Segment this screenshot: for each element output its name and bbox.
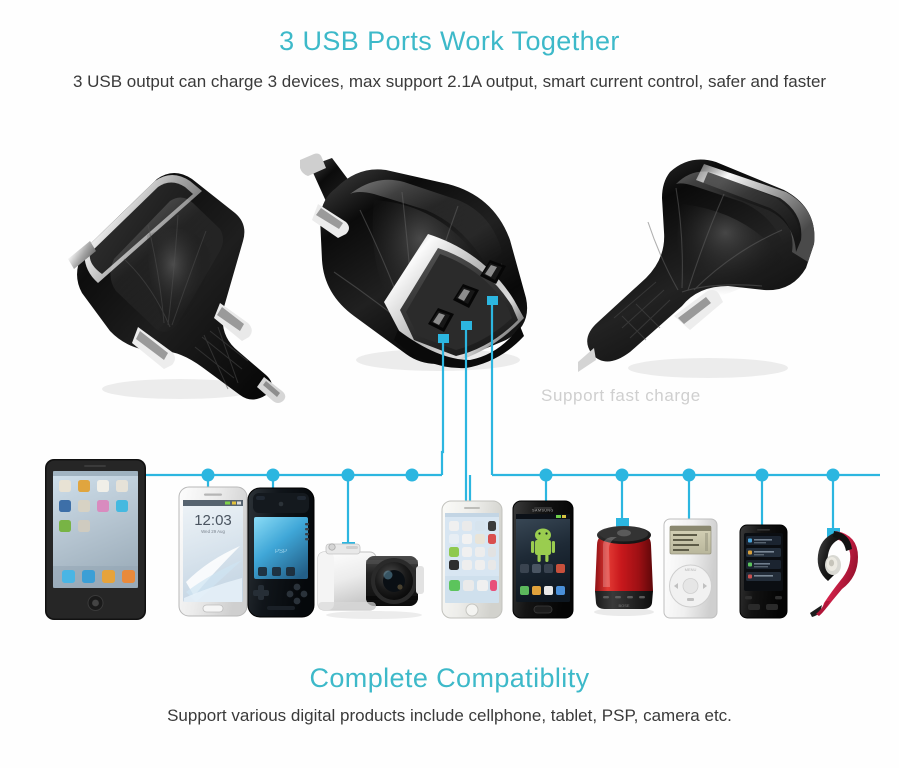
svg-text:SAMSUNG: SAMSUNG <box>532 509 554 513</box>
car-charger-left <box>52 155 292 405</box>
device-bluetooth-speaker: BOSE <box>589 515 659 617</box>
device-tablet <box>44 458 147 621</box>
device-ipod-classic: MENU <box>663 518 718 619</box>
bottom-heading: Complete Compatiblity <box>0 663 899 694</box>
junction-dots <box>202 469 840 482</box>
device-iphone <box>441 500 503 619</box>
top-heading: 3 USB Ports Work Together <box>0 26 899 57</box>
note-clock: 12:03 <box>194 512 232 529</box>
device-galaxy-note: 12:03 Wed 29 Aug <box>178 486 248 617</box>
device-mp4-player <box>739 524 788 619</box>
product-infographic: 3 USB Ports Work Together 3 USB output c… <box>0 0 899 768</box>
svg-text:Wed 29 Aug: Wed 29 Aug <box>201 529 225 534</box>
top-subtitle: 3 USB output can charge 3 devices, max s… <box>0 72 899 92</box>
svg-text:MENU: MENU <box>685 567 697 572</box>
car-charger-right <box>578 140 843 385</box>
car-charger-center <box>288 148 538 373</box>
fast-charge-label: Support fast charge <box>541 386 701 406</box>
device-samsung-android: SAMSUNG <box>512 500 574 619</box>
device-psp: PSP <box>247 487 315 618</box>
device-camera <box>316 534 428 620</box>
svg-text:BOSE: BOSE <box>618 603 629 608</box>
device-bluetooth-headset <box>806 523 866 619</box>
svg-text:PSP: PSP <box>275 549 287 555</box>
bottom-subtitle: Support various digital products include… <box>0 706 899 726</box>
